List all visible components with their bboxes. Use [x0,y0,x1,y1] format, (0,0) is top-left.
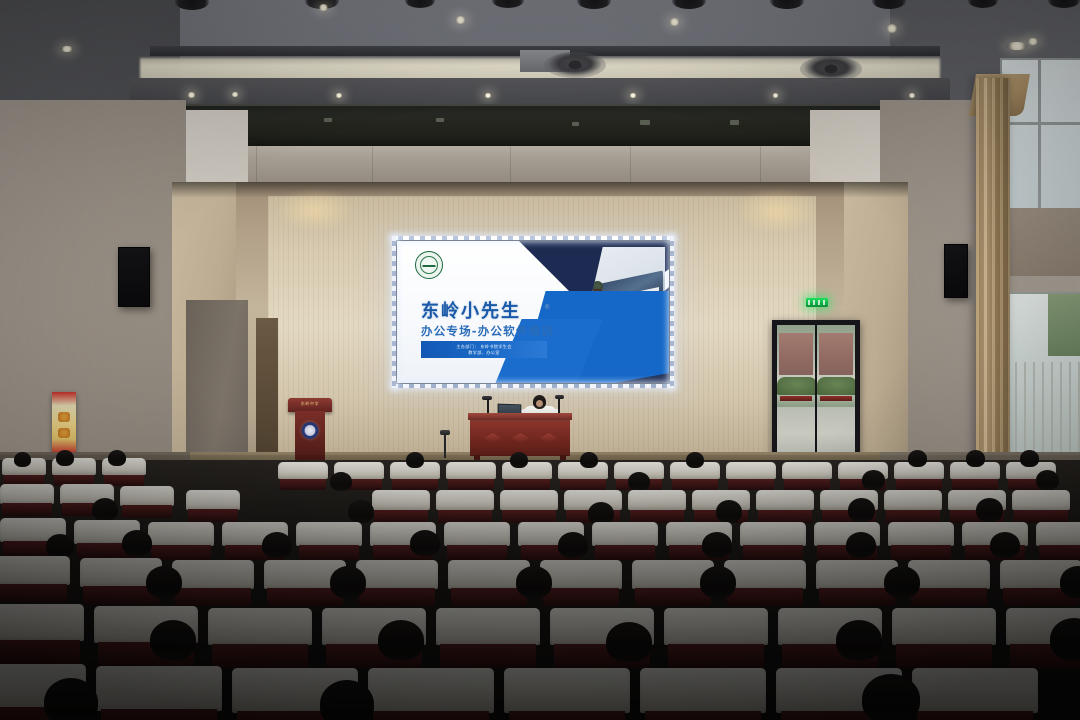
wall-speaker-right [944,244,968,298]
outside-building [819,333,853,375]
attendee-head [56,450,74,466]
wall-speaker-left [118,247,150,307]
attendee-head [348,500,374,523]
seat[interactable] [296,522,362,560]
seat[interactable] [208,608,312,668]
attendee-head [516,566,552,598]
seat[interactable] [1012,490,1070,523]
ceiling-downlight [187,92,196,98]
outside-hedge [817,377,855,395]
slide-subtitle: 办公专场-办公软件培训 [421,323,554,339]
seat[interactable] [628,490,686,523]
attendee-head [406,452,424,468]
left-side-door[interactable] [256,318,278,458]
led-border-left [392,236,396,388]
attendee-head [700,566,736,598]
school-emblem-logo [415,251,443,279]
seat[interactable] [664,608,768,668]
attendee-head [846,532,876,558]
door-glass-right [817,325,855,465]
ceiling-downlight [886,24,898,33]
ceiling-downlight [318,4,329,11]
window-security-bars [1006,362,1080,454]
ceiling-downlight [669,18,680,26]
wall-poster [52,392,76,454]
window-spandrel-panel [1000,208,1080,276]
seat[interactable] [436,608,540,668]
seat[interactable] [782,462,832,490]
seat[interactable] [888,522,954,560]
ceiling-downlight [60,46,74,52]
attendee-head [966,450,985,467]
attendee-head [510,452,528,468]
seat[interactable] [356,560,438,606]
attendee-head [580,452,598,468]
attendee-head [716,500,742,523]
speaker-face [536,400,543,407]
seat[interactable] [592,522,658,560]
ceiling-downlight [455,16,466,24]
window-lower [1004,292,1080,456]
seat[interactable] [640,668,766,720]
seat[interactable] [120,486,174,518]
slide-trademark: ® [545,305,549,311]
ceiling-downlight [772,93,779,98]
outside-building [779,333,813,375]
attendee-head [92,498,118,521]
seat[interactable] [1036,522,1080,560]
attendee-head [1036,470,1059,490]
table-front-panel [470,420,570,456]
ceiling-fan-icon [800,56,862,82]
wall-wash-light [280,192,350,228]
outside-foliage [1048,294,1080,356]
seat[interactable] [908,560,990,606]
lectern-top: 东岭中学 [288,398,332,412]
seat[interactable] [726,462,776,490]
poster-image-icon [58,428,70,438]
wall-left [0,100,186,500]
slide-organizer-banner: 主办部门： 东岭书院学生会 教学部、办公室 [421,341,547,358]
door-push-bar-right[interactable] [820,396,852,401]
lectern-label: 东岭中学 [288,401,332,407]
attendee-head [976,498,1003,522]
ceiling-downlight [629,93,637,98]
attendee-head [150,620,196,660]
seat[interactable] [540,560,622,606]
seat[interactable] [724,560,806,606]
attendee-head [330,472,352,491]
attendee-head [836,620,882,660]
poster-image-icon [58,412,70,422]
ceiling-downlight [484,93,492,98]
ceiling-downlight [231,92,239,97]
seat[interactable] [278,462,328,490]
seat[interactable] [502,462,552,490]
attendee-head [862,674,920,720]
attendee-head [108,450,126,466]
ceiling-fan-icon [544,52,606,78]
attendee-head [262,532,292,558]
seat[interactable] [912,668,1038,720]
rear-glass-double-doors[interactable] [772,320,860,470]
seat[interactable] [96,666,222,720]
attendee-head [44,678,98,720]
attendee-head [378,620,424,660]
seat[interactable] [756,490,814,523]
seat[interactable] [504,668,630,720]
attendee-head [558,532,588,558]
attendee-head [702,532,732,558]
attendee-head [122,530,152,556]
outside-hedge [777,377,815,395]
stage-lintel [160,146,920,182]
table-top [468,413,572,420]
attendee-head [410,530,440,556]
ceiling-downlight [1006,42,1028,50]
seat[interactable] [172,560,254,606]
attendee-head [606,622,652,662]
auditorium-scene: 东岭小先生 办公专场-办公软件培训 ® 主办部门： 东岭书院学生会 教学部、办公… [0,0,1080,720]
seat[interactable] [892,608,996,668]
lectern-podium[interactable]: 东岭中学 [288,398,332,460]
left-wall-alcove [186,300,248,460]
ceiling-panel-band [170,0,910,48]
seat[interactable] [740,522,806,560]
attendee-head [1020,450,1039,467]
led-border-bottom [392,384,674,388]
attendee-head [862,470,885,490]
attendee-head [330,566,366,598]
door-push-bar-left[interactable] [780,396,812,401]
window-curtain[interactable] [976,78,1010,478]
ceiling-downlight [335,93,343,98]
wall-wash-light [740,192,814,230]
attendee-head [46,534,74,558]
seat[interactable] [884,490,942,523]
seat[interactable] [0,484,54,516]
attendee-head [320,680,374,720]
seat[interactable] [148,522,214,560]
seat[interactable] [0,604,84,664]
slide-title: 东岭小先生 [421,297,521,323]
ceiling-downlight [908,93,916,98]
seat[interactable] [368,668,494,720]
school-crest [302,422,319,439]
seat[interactable] [186,490,240,522]
attendee-head [628,472,650,491]
led-border-top [392,236,674,240]
attendee-head [686,452,704,468]
seat[interactable] [500,490,558,523]
slide-banner-line-2: 教学部、办公室 [456,350,511,355]
led-border-right [670,236,674,388]
seat[interactable] [372,490,430,523]
attendee-head [146,566,182,598]
ceiling-downlight [1027,38,1039,45]
seat[interactable] [436,490,494,523]
attendee-head [14,452,31,467]
led-presentation-screen[interactable]: 东岭小先生 办公专场-办公软件培训 ® 主办部门： 东岭书院学生会 教学部、办公… [392,236,674,388]
exit-sign [806,298,828,307]
seat[interactable] [444,522,510,560]
attendee-head [884,566,920,598]
floor-microphone-stand [444,434,446,458]
projection-booth-window [172,104,916,150]
seat[interactable] [0,556,70,602]
slide-content: 东岭小先生 办公专场-办公软件培训 ® 主办部门： 东岭书院学生会 教学部、办公… [397,241,669,383]
attendee-head [990,532,1020,558]
door-glass-left [777,325,815,465]
seat[interactable] [446,462,496,490]
attendee-head [908,450,927,467]
attendee-head [848,498,875,522]
